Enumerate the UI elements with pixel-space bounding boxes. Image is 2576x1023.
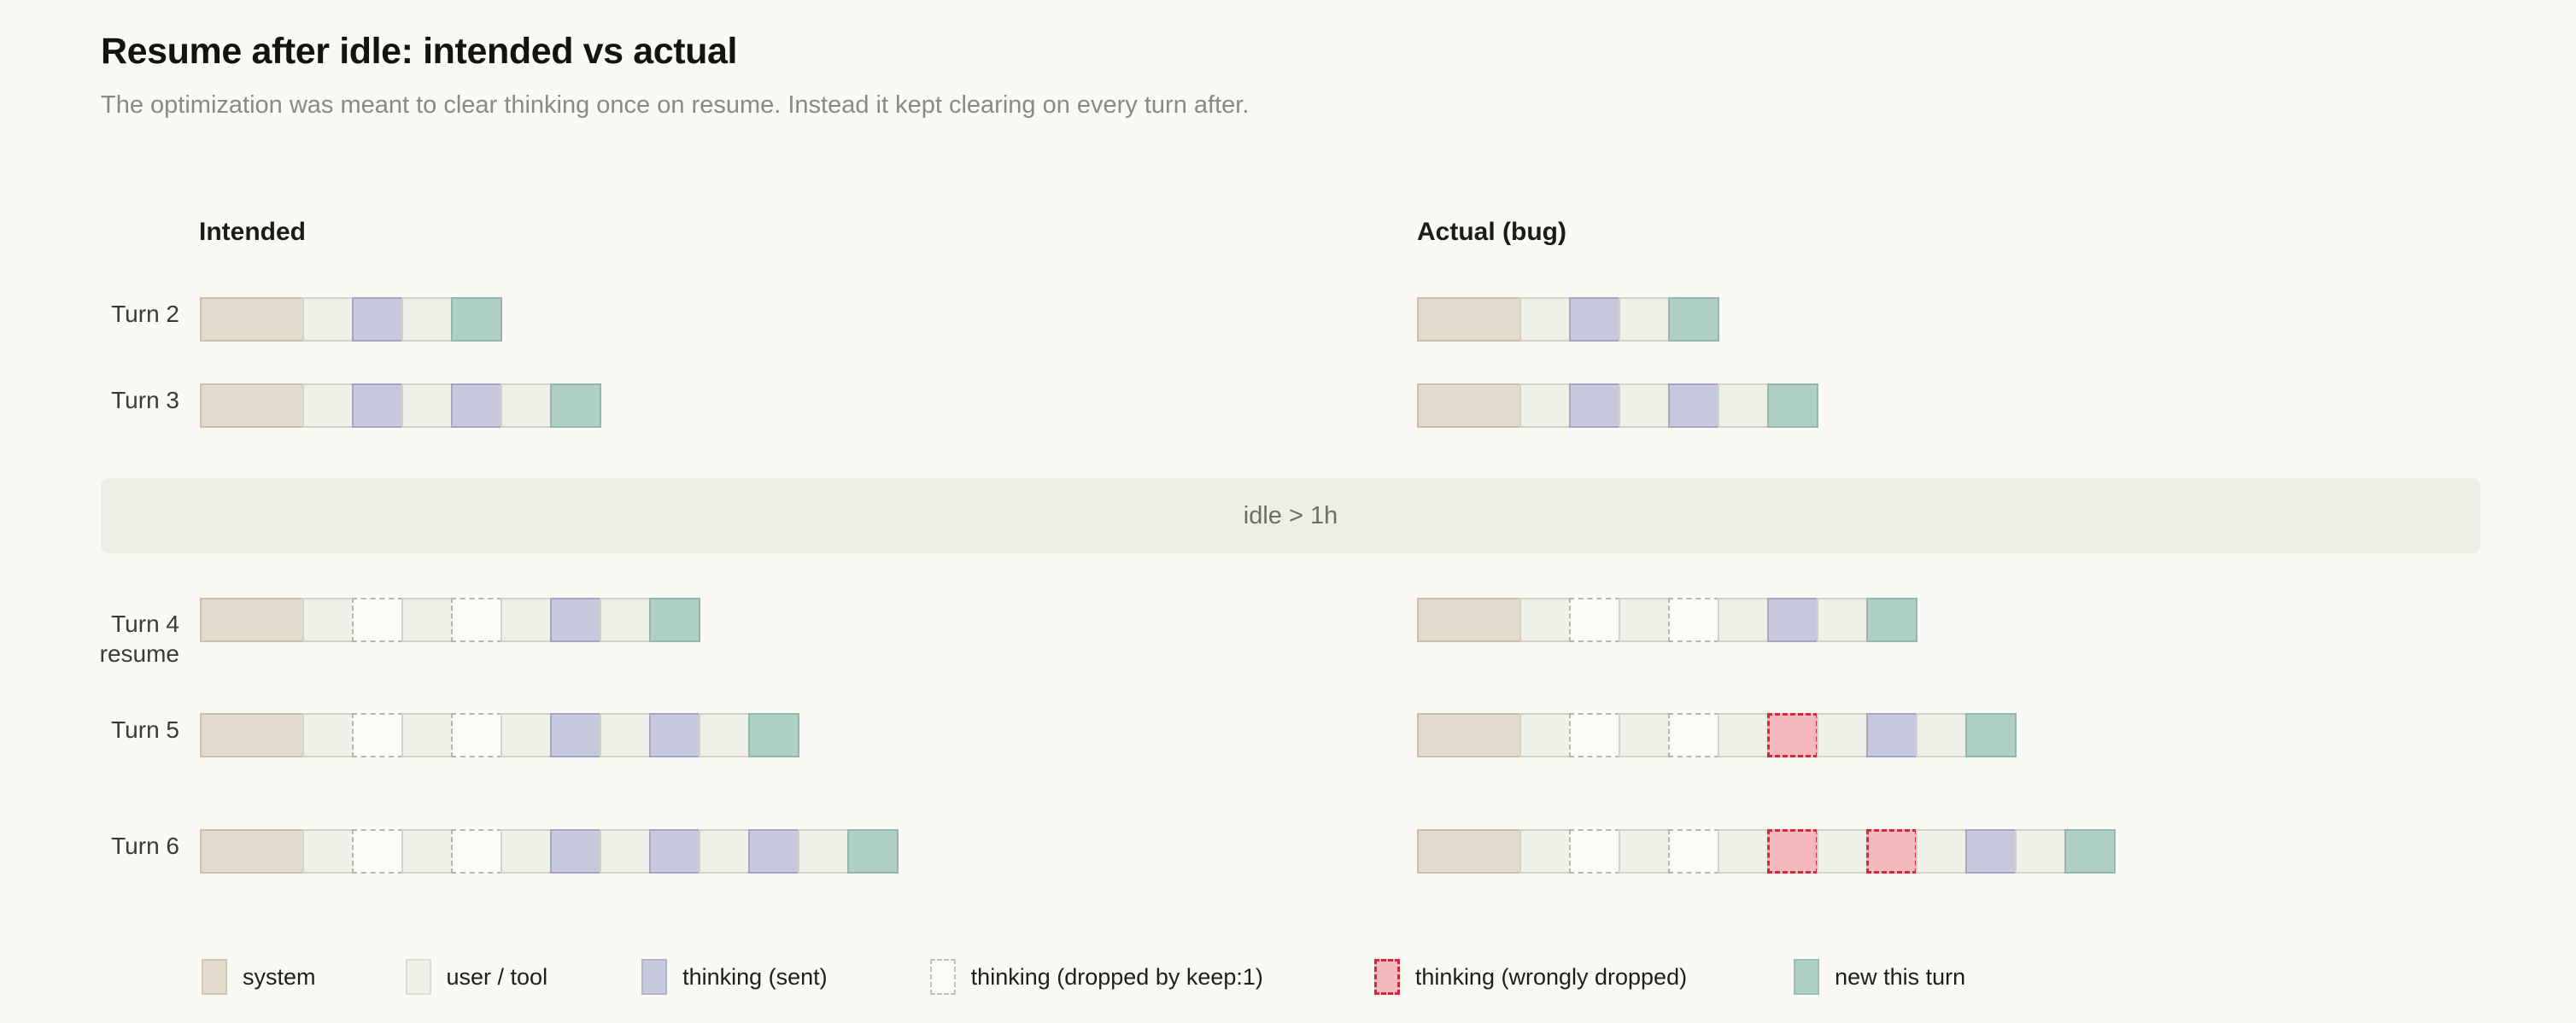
cell-system [200,297,304,342]
cell-think [550,713,601,757]
cell-new [748,713,799,757]
cell-user [600,713,651,757]
turn-strip-intended [200,383,600,428]
turn-strip-intended [200,829,897,874]
cell-user [1519,713,1571,757]
cell-wrong [1866,829,1917,874]
cell-user [501,829,552,874]
turn-strip-intended [200,713,798,757]
cell-user [1519,297,1571,342]
cell-user [1718,383,1769,428]
cell-drop [352,829,403,874]
cell-drop [451,713,502,757]
cell-user [1817,713,1868,757]
legend-label: new this turn [1835,964,1965,991]
cell-user [1619,829,1670,874]
cell-drop [1668,829,1719,874]
page-subtitle: The optimization was meant to clear thin… [101,91,1249,120]
cell-think [649,713,700,757]
cell-wrong [1767,713,1818,757]
cell-user [401,297,453,342]
cell-user [1916,713,1967,757]
cell-user [401,713,453,757]
cell-user [1916,829,1967,874]
row-label: Turn 3 [26,385,179,415]
cell-user [302,383,354,428]
cell-user [1718,713,1769,757]
cell-user [302,598,354,642]
cell-think [1866,713,1917,757]
legend-item-wrong: thinking (wrongly dropped) [1374,959,1687,995]
cell-user [1519,829,1571,874]
cell-drop [352,713,403,757]
cell-think [451,383,502,428]
cell-user [1718,829,1769,874]
cell-user [1718,598,1769,642]
turn-strip-actual [1417,383,1817,428]
cell-think [550,598,601,642]
cell-user [401,383,453,428]
cell-drop [352,598,403,642]
cell-user [600,598,651,642]
cell-user [699,713,750,757]
cell-drop [1668,713,1719,757]
cell-system [1417,383,1521,428]
cell-think [1668,383,1719,428]
cell-think [1965,829,2017,874]
cell-new [649,598,700,642]
legend-label: thinking (dropped by keep:1) [971,964,1263,991]
cell-user [699,829,750,874]
cell-think [1569,383,1620,428]
legend-label: thinking (wrongly dropped) [1415,964,1687,991]
page-title: Resume after idle: intended vs actual [101,31,737,73]
cell-user [1817,598,1868,642]
cell-new [1866,598,1917,642]
cell-new [2064,829,2116,874]
cell-user [501,383,552,428]
turn-strip-actual [1417,297,1718,342]
cell-user [501,598,552,642]
cell-think [550,829,601,874]
turn-strip-actual [1417,598,1916,642]
cell-system [200,598,304,642]
cell-think [1569,297,1620,342]
row-label: Turn 5 [26,715,179,745]
diagram-canvas: Resume after idle: intended vs actual Th… [0,0,2576,1023]
cell-drop [451,829,502,874]
legend-swatch-think [641,959,667,995]
row-label: Turn 6 [26,831,179,861]
cell-user [302,297,354,342]
legend-swatch-new [1794,959,1819,995]
legend-swatch-system [202,959,227,995]
legend-label: thinking (sent) [682,964,828,991]
cell-drop [1569,598,1620,642]
cell-user [401,829,453,874]
cell-think [352,297,403,342]
cell-user [501,713,552,757]
cell-user [600,829,651,874]
cell-wrong [1767,829,1818,874]
cell-drop [1569,713,1620,757]
turn-strip-actual [1417,713,2015,757]
legend-item-drop: thinking (dropped by keep:1) [930,959,1263,995]
cell-user [1619,383,1670,428]
turn-strip-intended [200,297,501,342]
cell-new [451,297,502,342]
cell-new [847,829,899,874]
turn-strip-actual [1417,829,2114,874]
legend-item-think: thinking (sent) [641,959,828,995]
legend-label: user / tool [447,964,548,991]
idle-divider-label: idle > 1h [1244,502,1338,530]
legend-swatch-drop [930,959,956,995]
cell-new [1668,297,1719,342]
cell-think [352,383,403,428]
cell-system [200,713,304,757]
cell-user [401,598,453,642]
cell-user [1519,598,1571,642]
idle-divider-band: idle > 1h [101,478,2480,553]
cell-system [1417,829,1521,874]
cell-user [2015,829,2066,874]
column-header-intended: Intended [199,218,306,247]
cell-user [798,829,849,874]
row-label: Turn 2 [26,299,179,329]
cell-new [1767,383,1818,428]
legend-swatch-wrong [1374,959,1400,995]
cell-drop [1668,598,1719,642]
legend-item-new: new this turn [1794,959,1965,995]
row-label: Turn 4 resume [26,609,179,669]
cell-user [1619,713,1670,757]
legend-swatch-user [406,959,431,995]
cell-think [649,829,700,874]
cell-system [1417,297,1521,342]
cell-system [1417,598,1521,642]
legend-label: system [243,964,316,991]
cell-system [1417,713,1521,757]
cell-user [1519,383,1571,428]
legend-item-user: user / tool [406,959,548,995]
cell-system [200,383,304,428]
cell-drop [451,598,502,642]
cell-user [1817,829,1868,874]
cell-drop [1569,829,1620,874]
cell-think [1767,598,1818,642]
cell-new [1965,713,2017,757]
turn-strip-intended [200,598,699,642]
cell-user [1619,297,1670,342]
cell-new [550,383,601,428]
cell-think [748,829,799,874]
cell-user [1619,598,1670,642]
cell-user [302,713,354,757]
cell-system [200,829,304,874]
cell-user [302,829,354,874]
legend-item-system: system [202,959,316,995]
column-header-actual: Actual (bug) [1417,218,1566,247]
legend: systemuser / toolthinking (sent)thinking… [202,959,1965,995]
